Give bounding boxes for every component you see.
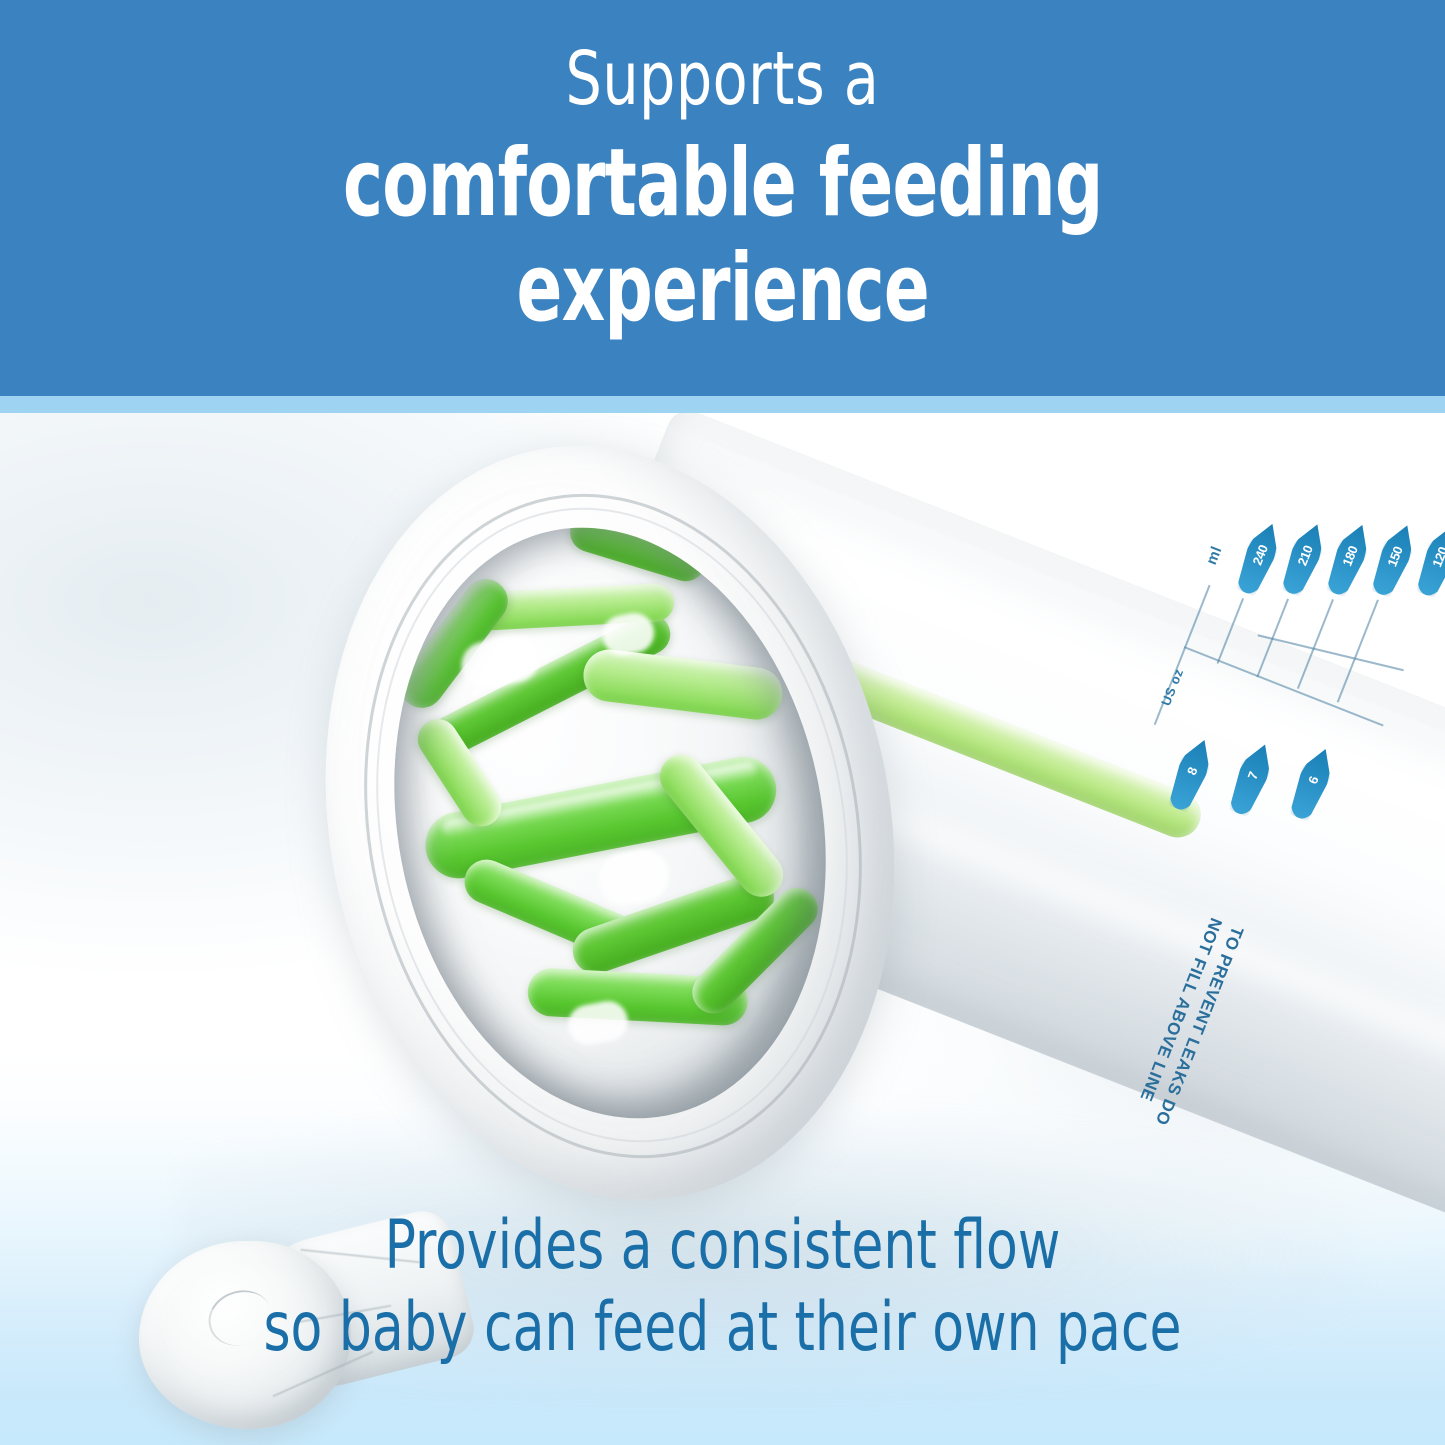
scale-axis-line [1258, 634, 1404, 671]
scale-drop-value: 120 [1427, 540, 1445, 573]
scale-drop-marker: 240 [1231, 518, 1286, 598]
scale-drop-value: 150 [1383, 540, 1408, 573]
scale-drop-marker: 6 [1285, 744, 1340, 824]
scale-drop-value: 7 [1240, 759, 1265, 792]
scale-drop-value: 210 [1293, 539, 1318, 572]
unit-label-usoz: US oz [1158, 666, 1186, 707]
scale-drop-marker: 210 [1276, 519, 1331, 599]
product-feature-image: Supports a comfortable feeding experienc… [0, 0, 1445, 1445]
headline-line-2: comfortable feeding [343, 131, 1103, 236]
scale-drop-marker: 180 [1321, 519, 1376, 599]
scale-drop-value: 8 [1180, 755, 1205, 788]
scale-drop-marker: 150 [1366, 520, 1421, 600]
scale-tick [1217, 598, 1245, 664]
scale-drop-value: 6 [1301, 764, 1326, 797]
divider-strip [0, 396, 1445, 413]
scale-drop-marker: 7 [1224, 739, 1279, 819]
scale-drop-marker: 8 [1163, 735, 1218, 815]
scale-tick [1337, 599, 1379, 702]
product-photo: 240 210 180 150 120 [0, 413, 1445, 1445]
header-band: Supports a comfortable feeding experienc… [0, 0, 1445, 396]
scale-drop-value: 180 [1338, 539, 1363, 572]
scale-drop-marker: 120 [1411, 520, 1445, 600]
headline-line-3: experience [343, 236, 1103, 341]
headline-bold-group: comfortable feeding experience [248, 131, 1198, 342]
vent-gap [595, 845, 674, 909]
unit-label-ml: ml [1203, 544, 1226, 567]
headline-line-1: Supports a [566, 44, 880, 115]
vent-rib-mid-right [580, 647, 785, 723]
scale-drop-value: 240 [1248, 538, 1273, 571]
